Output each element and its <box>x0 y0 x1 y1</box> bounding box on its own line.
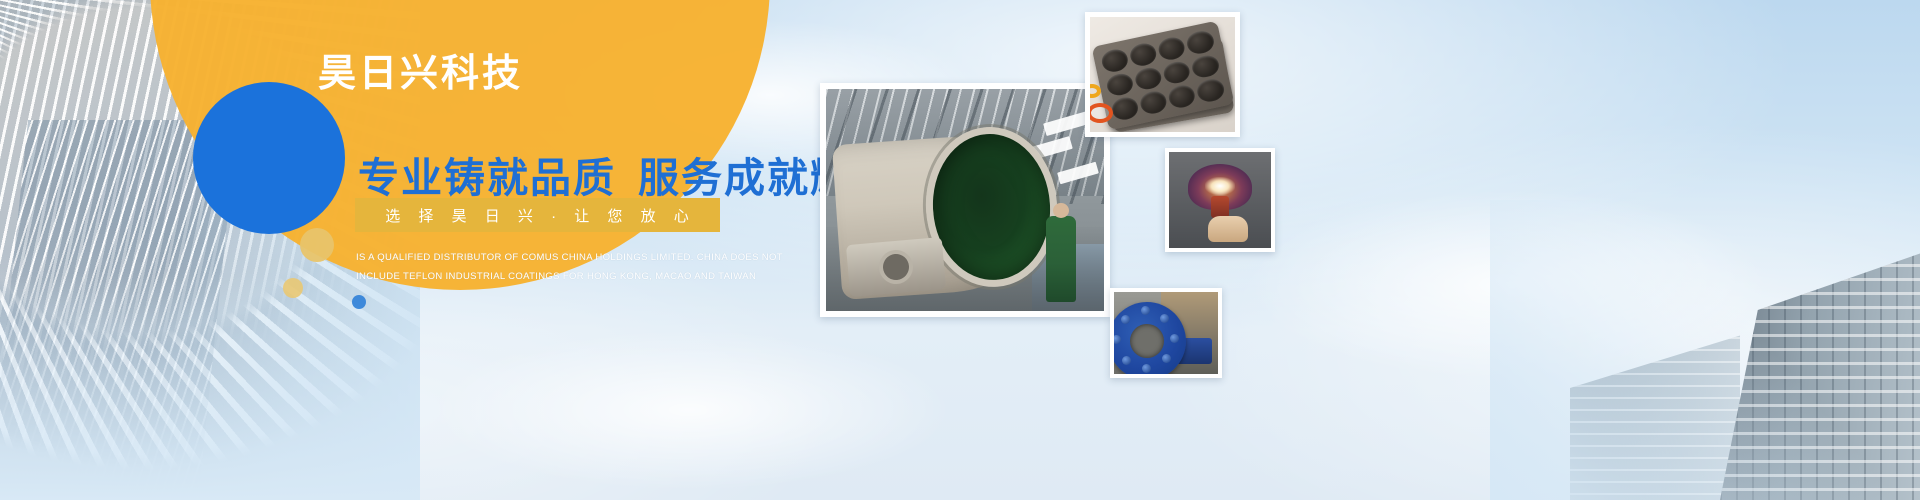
gold-dot-decor <box>300 228 334 262</box>
brand-name: 昊日兴科技 <box>318 55 523 93</box>
infrared-lamp-photo <box>1165 148 1275 252</box>
flange-bolt <box>1162 354 1171 363</box>
disclaimer-line-2: INCLUDE TEFLON INDUSTRIAL COATINGS FOR H… <box>356 267 756 286</box>
tray-cup <box>1100 47 1130 74</box>
disclaimer-text: IS A QUALIFIED DISTRIBUTOR OF COMUS CHIN… <box>356 248 756 287</box>
factory-vessel-photo <box>820 83 1110 317</box>
headline: 专业铸就品质服务成就辉煌 <box>358 155 896 202</box>
bakeware-tray-photo <box>1085 12 1240 137</box>
slogan-text: 选 择 昊 日 兴 · 让 您 放 心 <box>379 205 696 226</box>
lamp-hand <box>1208 216 1248 242</box>
slogan-bar: 选 择 昊 日 兴 · 让 您 放 心 <box>355 198 720 232</box>
flange-bolt <box>1170 334 1179 343</box>
tray-cup <box>1167 83 1197 110</box>
flange-bolt <box>1142 364 1151 373</box>
flange-center-hole <box>1130 324 1164 358</box>
promo-banner: 昊日兴科技 专业铸就品质服务成就辉煌 选 择 昊 日 兴 · 让 您 放 心 I… <box>0 0 1920 500</box>
tray-cup <box>1128 41 1158 68</box>
cloud-decor <box>430 330 950 490</box>
flange-bolt <box>1114 335 1121 344</box>
skyline-photo <box>1490 200 1920 500</box>
blue-dot-decor <box>352 295 366 309</box>
flange-bolt <box>1121 315 1130 324</box>
blue-flange-image <box>1114 292 1218 374</box>
tray-cup <box>1133 65 1163 92</box>
disclaimer-line-1: IS A QUALIFIED DISTRIBUTOR OF COMUS CHIN… <box>356 248 756 267</box>
tray-cup <box>1138 89 1168 116</box>
tray-cup <box>1185 29 1215 56</box>
tray-cup <box>1162 59 1192 86</box>
headline-left: 专业铸就品质 <box>358 155 616 201</box>
gold-dot-decor-small <box>283 278 303 298</box>
factory-vessel-image <box>826 89 1104 311</box>
worker-figure <box>1046 216 1076 302</box>
lamp-neck <box>1211 196 1229 218</box>
bakeware-tray-image <box>1090 17 1235 132</box>
infrared-lamp-image <box>1169 152 1271 248</box>
flange-bolt <box>1141 306 1150 315</box>
vessel-flange <box>846 237 946 297</box>
tray-cup <box>1110 96 1140 123</box>
tray-cup <box>1105 71 1135 98</box>
blue-circle-decor <box>193 82 345 234</box>
tray-cup <box>1195 77 1225 104</box>
lamp-glow <box>1205 177 1235 195</box>
flange-bolt <box>1160 314 1169 323</box>
flange-bolt <box>1122 356 1131 365</box>
blue-flange-photo <box>1110 288 1222 378</box>
skyline-fade <box>1490 200 1920 500</box>
tray-cup <box>1157 35 1187 62</box>
tray-cup <box>1190 53 1220 80</box>
